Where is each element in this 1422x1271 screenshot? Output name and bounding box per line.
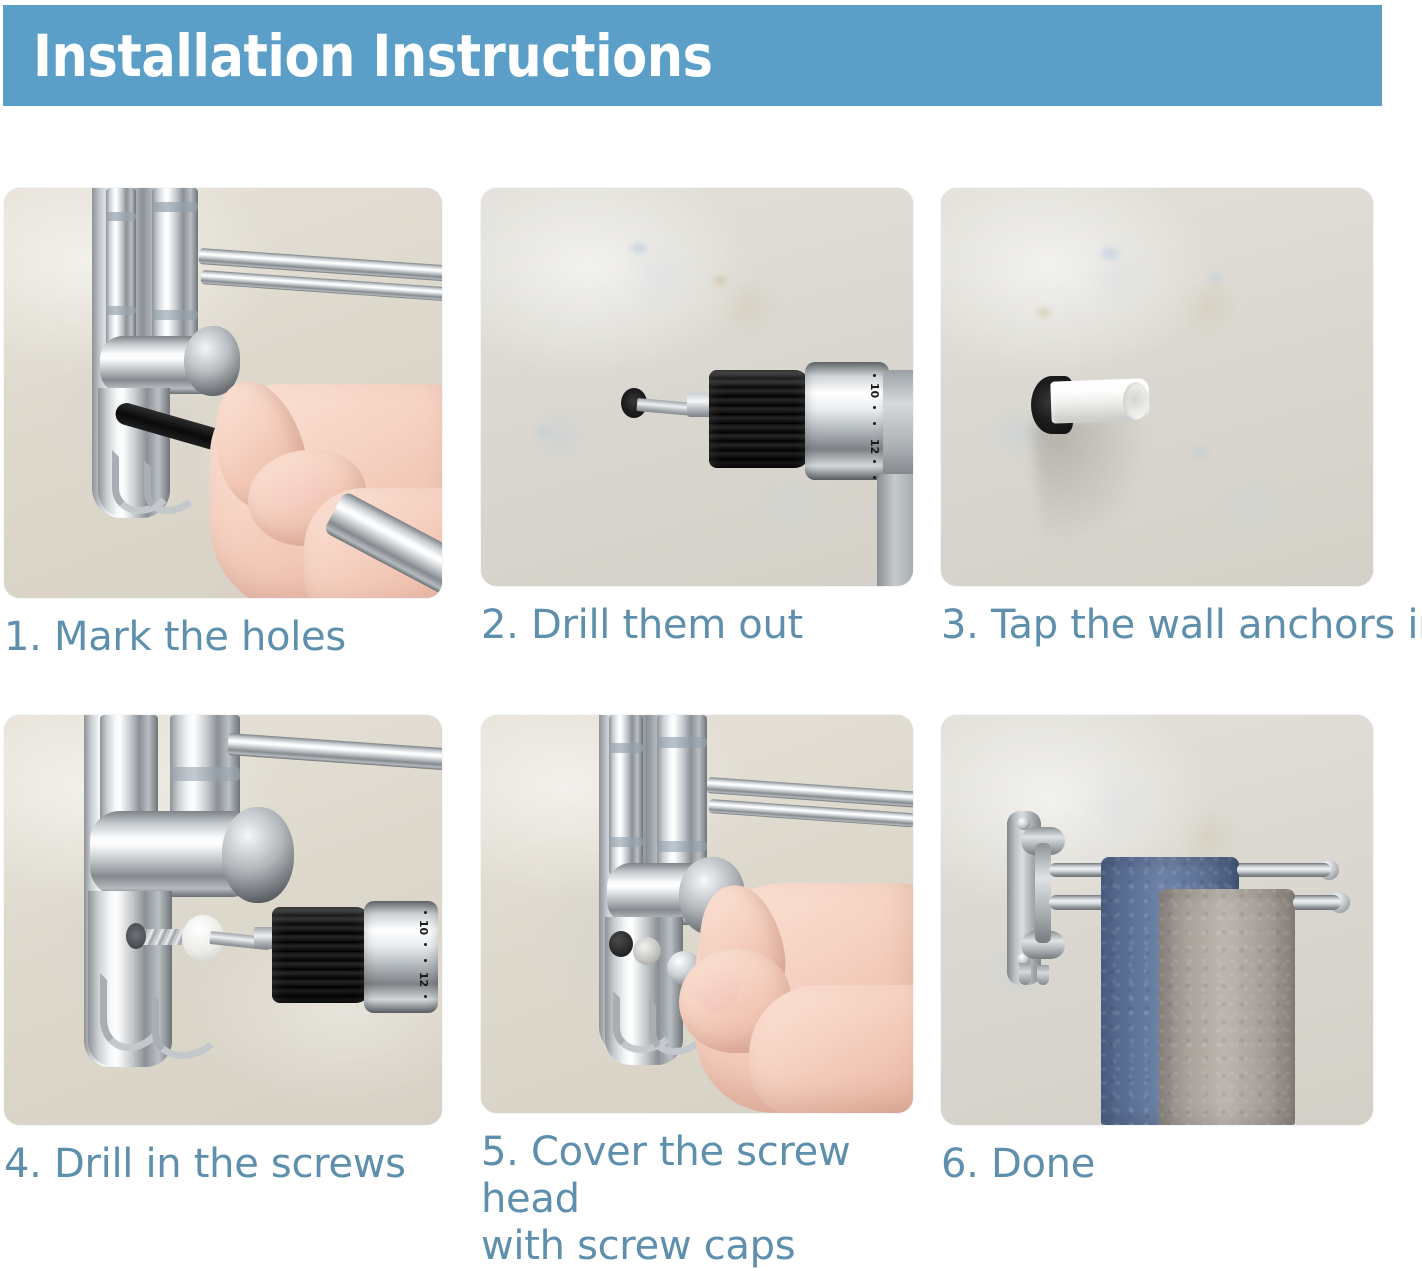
- screw-head: [633, 937, 661, 965]
- collar-dot: [424, 911, 427, 914]
- step-1-photo: [4, 188, 442, 598]
- step-5: 5. Cover the screw head with screw caps: [481, 715, 921, 1271]
- wall-speck: [713, 276, 727, 285]
- step-2-caption: 2. Drill them out: [481, 602, 921, 649]
- rack-hook-right: [1037, 965, 1049, 985]
- drill-collar: [805, 362, 889, 480]
- rack-joint-column: [1035, 843, 1051, 943]
- collar-dot: [873, 406, 876, 409]
- step-6: 6. Done: [941, 715, 1381, 1188]
- installation-steps-grid: 1. Mark the holes 10 12 2. Dril: [0, 120, 1422, 1239]
- step-4-caption: 4. Drill in the screws: [4, 1141, 444, 1188]
- step-2-photo: 10 12: [481, 188, 913, 586]
- wall-speck: [537, 428, 549, 436]
- step-2: 10 12 2. Drill them out: [481, 188, 921, 649]
- step-3-caption: 3. Tap the wall anchors in: [941, 602, 1381, 649]
- towel-texture: [1159, 889, 1295, 1125]
- drill-collar-mark-12: 12: [868, 439, 881, 454]
- collar-dot: [424, 943, 427, 946]
- pipe-band-lower: [609, 837, 643, 847]
- vertical-pipe-left: [609, 715, 643, 875]
- drill-body: [883, 370, 913, 482]
- pipe-band-upper-right: [152, 202, 198, 212]
- wall-speck: [1101, 248, 1119, 259]
- wall-anchor-opening: [1123, 382, 1149, 420]
- page-title: Installation Instructions: [33, 27, 713, 85]
- rack-hook-left: [1019, 963, 1031, 985]
- wall-speck: [631, 243, 647, 253]
- pipe-band: [170, 767, 240, 781]
- collar-dot: [873, 460, 876, 463]
- pipe-band-upper: [106, 212, 136, 221]
- pipe-band-lower-right: [657, 841, 707, 852]
- step-5-caption: 5. Cover the screw head with screw caps: [481, 1129, 921, 1271]
- towel-gray: [1159, 889, 1295, 1125]
- fingernail: [693, 969, 739, 1011]
- pipe-band-upper: [609, 743, 643, 753]
- wall-speck: [1193, 448, 1208, 457]
- step-3-photo: [941, 188, 1373, 586]
- drill-chuck: [709, 370, 809, 468]
- wall-speck: [1037, 308, 1050, 317]
- step-4-photo: 10 12: [4, 715, 442, 1125]
- screw-cap-dark: [609, 931, 633, 957]
- collar-dot: [424, 959, 427, 962]
- hand-knuckles: [749, 985, 913, 1113]
- step-6-photo: [941, 715, 1373, 1125]
- step-5-photo: [481, 715, 913, 1113]
- pipe-band-lower: [106, 306, 136, 315]
- step-1-caption: 1. Mark the holes: [4, 614, 444, 661]
- pipe-band-lower-right: [152, 310, 198, 320]
- step-3: 3. Tap the wall anchors in: [941, 188, 1381, 649]
- wall-speck: [1209, 274, 1223, 283]
- drill-chuck: [272, 907, 370, 1003]
- collar-dot: [424, 995, 427, 998]
- screw-hole: [126, 923, 146, 949]
- drill-handle: [877, 474, 913, 586]
- step-4: 10 12 4. Drill in the screws: [4, 715, 444, 1188]
- collar-dot: [873, 476, 876, 479]
- step-6-caption: 6. Done: [941, 1141, 1381, 1188]
- header-banner: Installation Instructions: [3, 5, 1382, 106]
- rack-arm-lower-overlay: [1293, 895, 1341, 910]
- rack-arm-upper-overlay: [1237, 863, 1331, 877]
- drill-collar-mark-10: 10: [868, 383, 881, 398]
- collar-dot: [873, 422, 876, 425]
- drill-collar-mark-12: 12: [417, 972, 430, 987]
- pipe-band-upper-right: [657, 737, 707, 748]
- step-1: 1. Mark the holes: [4, 188, 444, 661]
- drill-collar-mark-10: 10: [417, 920, 430, 935]
- swivel-cap: [222, 807, 294, 903]
- collar-dot: [873, 374, 876, 377]
- fingernail: [272, 464, 322, 508]
